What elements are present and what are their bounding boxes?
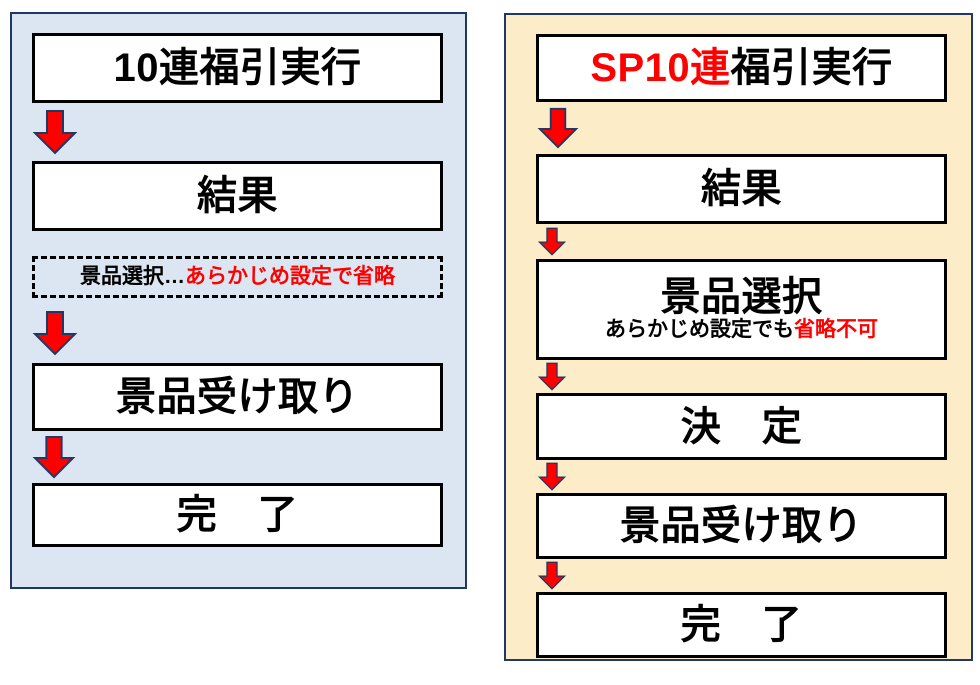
sp-execute-suffix-text: 福引実行	[731, 46, 893, 90]
prize-select-skip-note-text: あらかじめ設定で省略	[185, 265, 395, 288]
sp-step-execute-box[interactable]: SP10連福引実行	[536, 34, 947, 102]
sp-execute-prefix-text: SP10連	[590, 46, 730, 90]
sp-step-execute-label: SP10連福引実行	[590, 47, 892, 89]
sp-step-prize-select-note: あらかじめ設定でも省略不可	[605, 319, 878, 341]
sp-step-decide-label: 決 定	[681, 406, 803, 448]
sp-step-prize-receive-box[interactable]: 景品受け取り	[536, 493, 947, 559]
special-flow-column: SP10連福引実行 結果 景品選択 あらかじめ設定でも省略不可	[536, 34, 947, 658]
down-arrow-icon	[32, 109, 443, 155]
step-prize-select-skipped-label: 景品選択…あらかじめ設定で省略	[80, 266, 395, 288]
normal-flow-column: 10連福引実行 結果 景品選択…あらかじめ設定で省略	[32, 33, 443, 547]
step-complete-label: 完 了	[177, 494, 299, 536]
step-result-label: 結果	[197, 175, 278, 217]
diagram-canvas: 10連福引実行 結果 景品選択…あらかじめ設定で省略	[0, 0, 980, 685]
down-arrow-icon	[32, 435, 443, 479]
sp-step-decide-text: 決 定	[681, 405, 803, 449]
sp-step-result-box[interactable]: 結果	[536, 154, 947, 224]
sp-step-decide-box[interactable]: 決 定	[536, 393, 947, 460]
step-execute-box[interactable]: 10連福引実行	[32, 33, 443, 103]
sp-step-prize-receive-label: 景品受け取り	[620, 505, 863, 547]
step-prize-receive-text: 景品受け取り	[116, 375, 359, 419]
step-prize-receive-box[interactable]: 景品受け取り	[32, 363, 443, 431]
prize-select-prefix-text: 景品選択…	[80, 265, 185, 288]
down-arrow-icon	[536, 362, 947, 391]
step-complete-text: 完 了	[177, 493, 299, 537]
down-arrow-icon	[536, 227, 947, 256]
step-result-text: 結果	[197, 174, 278, 218]
sp-step-complete-label: 完 了	[681, 604, 803, 646]
step-complete-box[interactable]: 完 了	[32, 483, 443, 547]
step-execute-text: 10連福引実行	[114, 46, 362, 90]
sp-prize-select-note-emphasis-text: 省略不可	[794, 318, 878, 341]
sp-step-result-text: 結果	[701, 167, 782, 211]
sp-step-prize-select-box[interactable]: 景品選択 あらかじめ設定でも省略不可	[536, 259, 947, 360]
step-execute-label: 10連福引実行	[114, 47, 362, 89]
sp-prize-select-note-prefix-text: あらかじめ設定でも	[605, 318, 794, 341]
step-prize-select-skipped-box: 景品選択…あらかじめ設定で省略	[32, 256, 443, 298]
down-arrow-icon	[536, 462, 947, 491]
step-result-box[interactable]: 結果	[32, 161, 443, 231]
sp-prize-select-text: 景品選択	[661, 275, 823, 319]
down-arrow-icon	[536, 561, 947, 590]
sp-step-prize-receive-text: 景品受け取り	[620, 504, 863, 548]
down-arrow-icon	[536, 107, 947, 149]
sp-step-complete-box[interactable]: 完 了	[536, 592, 947, 658]
sp-step-result-label: 結果	[701, 168, 782, 210]
sp-step-complete-text: 完 了	[681, 603, 803, 647]
step-prize-receive-label: 景品受け取り	[116, 376, 359, 418]
sp-step-prize-select-label: 景品選択	[661, 276, 823, 318]
down-arrow-icon	[32, 310, 443, 356]
